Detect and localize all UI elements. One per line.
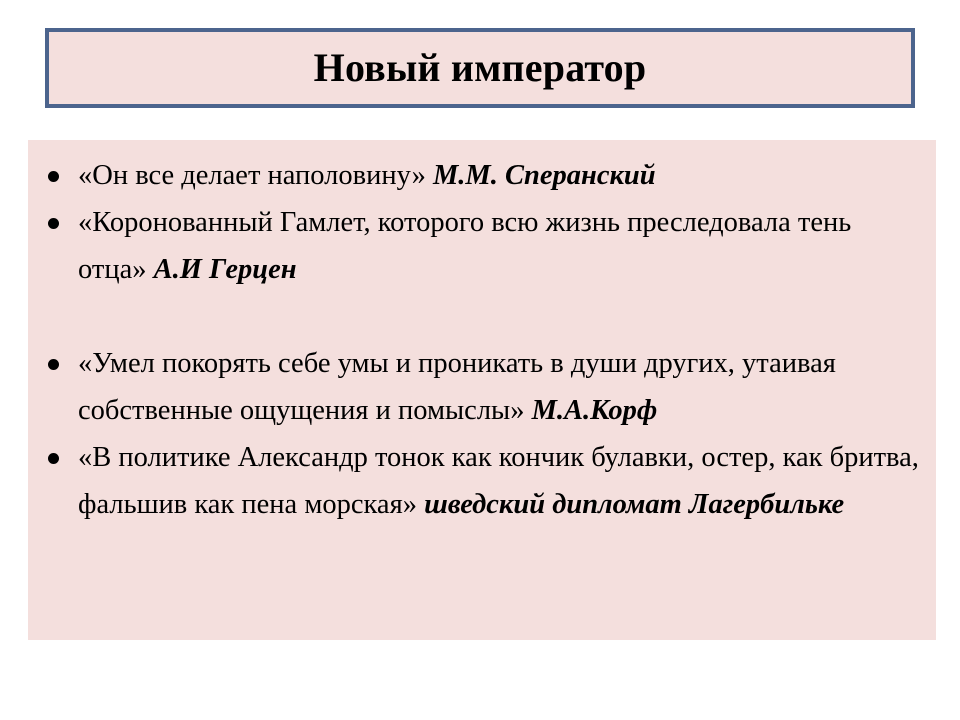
list-item: «Коронованный Гамлет, которого всю жизнь… (38, 199, 926, 293)
bullet-dot-icon (48, 152, 62, 199)
quote-text: «Он все делает наполовину» (78, 160, 433, 191)
slide-content-panel: «Он все делает наполовину» М.М. Сперанск… (28, 140, 936, 640)
slide-canvas: Новый император «Он все делает наполовин… (0, 0, 960, 720)
list-item: «В политике Александр тонок как кончик б… (38, 434, 926, 528)
quote-attribution: шведский дипломат Лагербильке (424, 489, 844, 520)
quote-text: «Умел покорять себе умы и проникать в ду… (78, 348, 836, 426)
bullet-dot-icon (48, 434, 62, 481)
quote-attribution: А.И Герцен (154, 254, 297, 285)
quote-bullet-list: «Он все делает наполовину» М.М. Сперанск… (38, 152, 926, 528)
page-title: Новый император (314, 47, 647, 89)
bullet-dot-icon (48, 340, 62, 387)
quote-attribution: М.А.Корф (532, 395, 658, 426)
list-item: «Он все делает наполовину» М.М. Сперанск… (38, 152, 926, 199)
quote-attribution: М.М. Сперанский (433, 160, 656, 191)
list-item: «Умел покорять себе умы и проникать в ду… (38, 340, 926, 434)
bullet-dot-icon (48, 199, 62, 246)
slide-title-box: Новый император (45, 28, 915, 108)
